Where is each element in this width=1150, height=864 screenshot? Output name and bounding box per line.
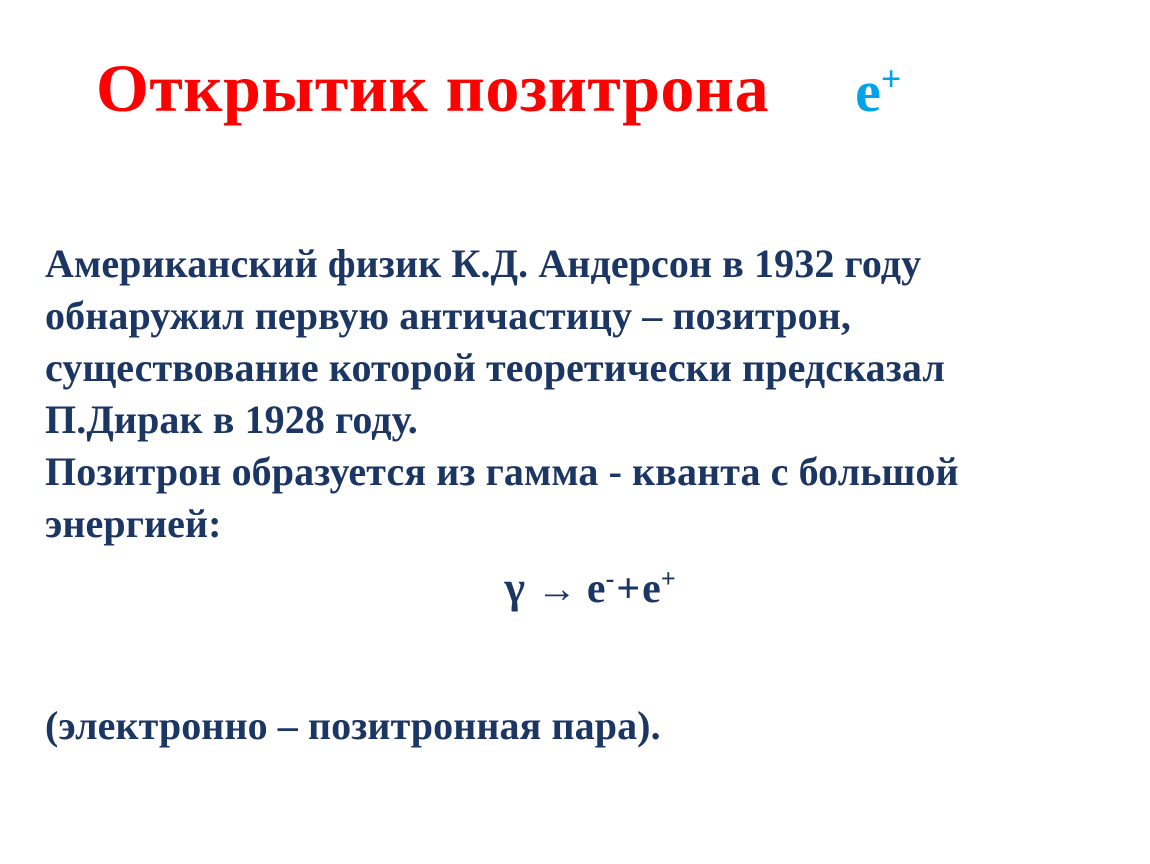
slide-title-row: Открытик позитрона e+ [96, 54, 1076, 140]
electron-base-letter: e [587, 566, 606, 612]
closing-row: (электронно – позитронная пара). [45, 700, 1105, 752]
right-arrow-icon: → [537, 566, 577, 611]
positron-base-letter-equation: e [642, 566, 661, 612]
body-line: существование которой теоретически предс… [45, 342, 1105, 394]
gamma-symbol: γ [504, 563, 525, 612]
body-text-block: Американский физик К.Д. Андерсон в 1932 … [45, 238, 1105, 550]
pair-production-equation: γ→e-+e+ [504, 566, 675, 610]
body-line: П.Дирак в 1928 году. [45, 394, 1105, 446]
body-line: Позитрон образуется из гамма - кванта с … [45, 446, 1105, 498]
page-title: Открытик позитрона [96, 54, 769, 122]
slide-canvas: Открытик позитрона e+ Американский физик… [0, 0, 1150, 864]
body-line: энергией: [45, 498, 1105, 550]
equation-row: γ→e-+e+ [0, 566, 1150, 610]
body-line: Американский физик К.Д. Андерсон в 1932 … [45, 238, 1105, 290]
positron-charge-superscript: + [881, 59, 902, 99]
positron-symbol-title: e+ [855, 63, 901, 121]
closing-caption: (электронно – позитронная пара). [45, 700, 1105, 752]
electron-charge-superscript: - [606, 564, 615, 593]
body-line: обнаружил первую античастицу – позитрон, [45, 290, 1105, 342]
positron-charge-superscript-equation: + [661, 564, 676, 593]
plus-operator: + [616, 566, 640, 612]
positron-base-letter: e [855, 59, 881, 124]
